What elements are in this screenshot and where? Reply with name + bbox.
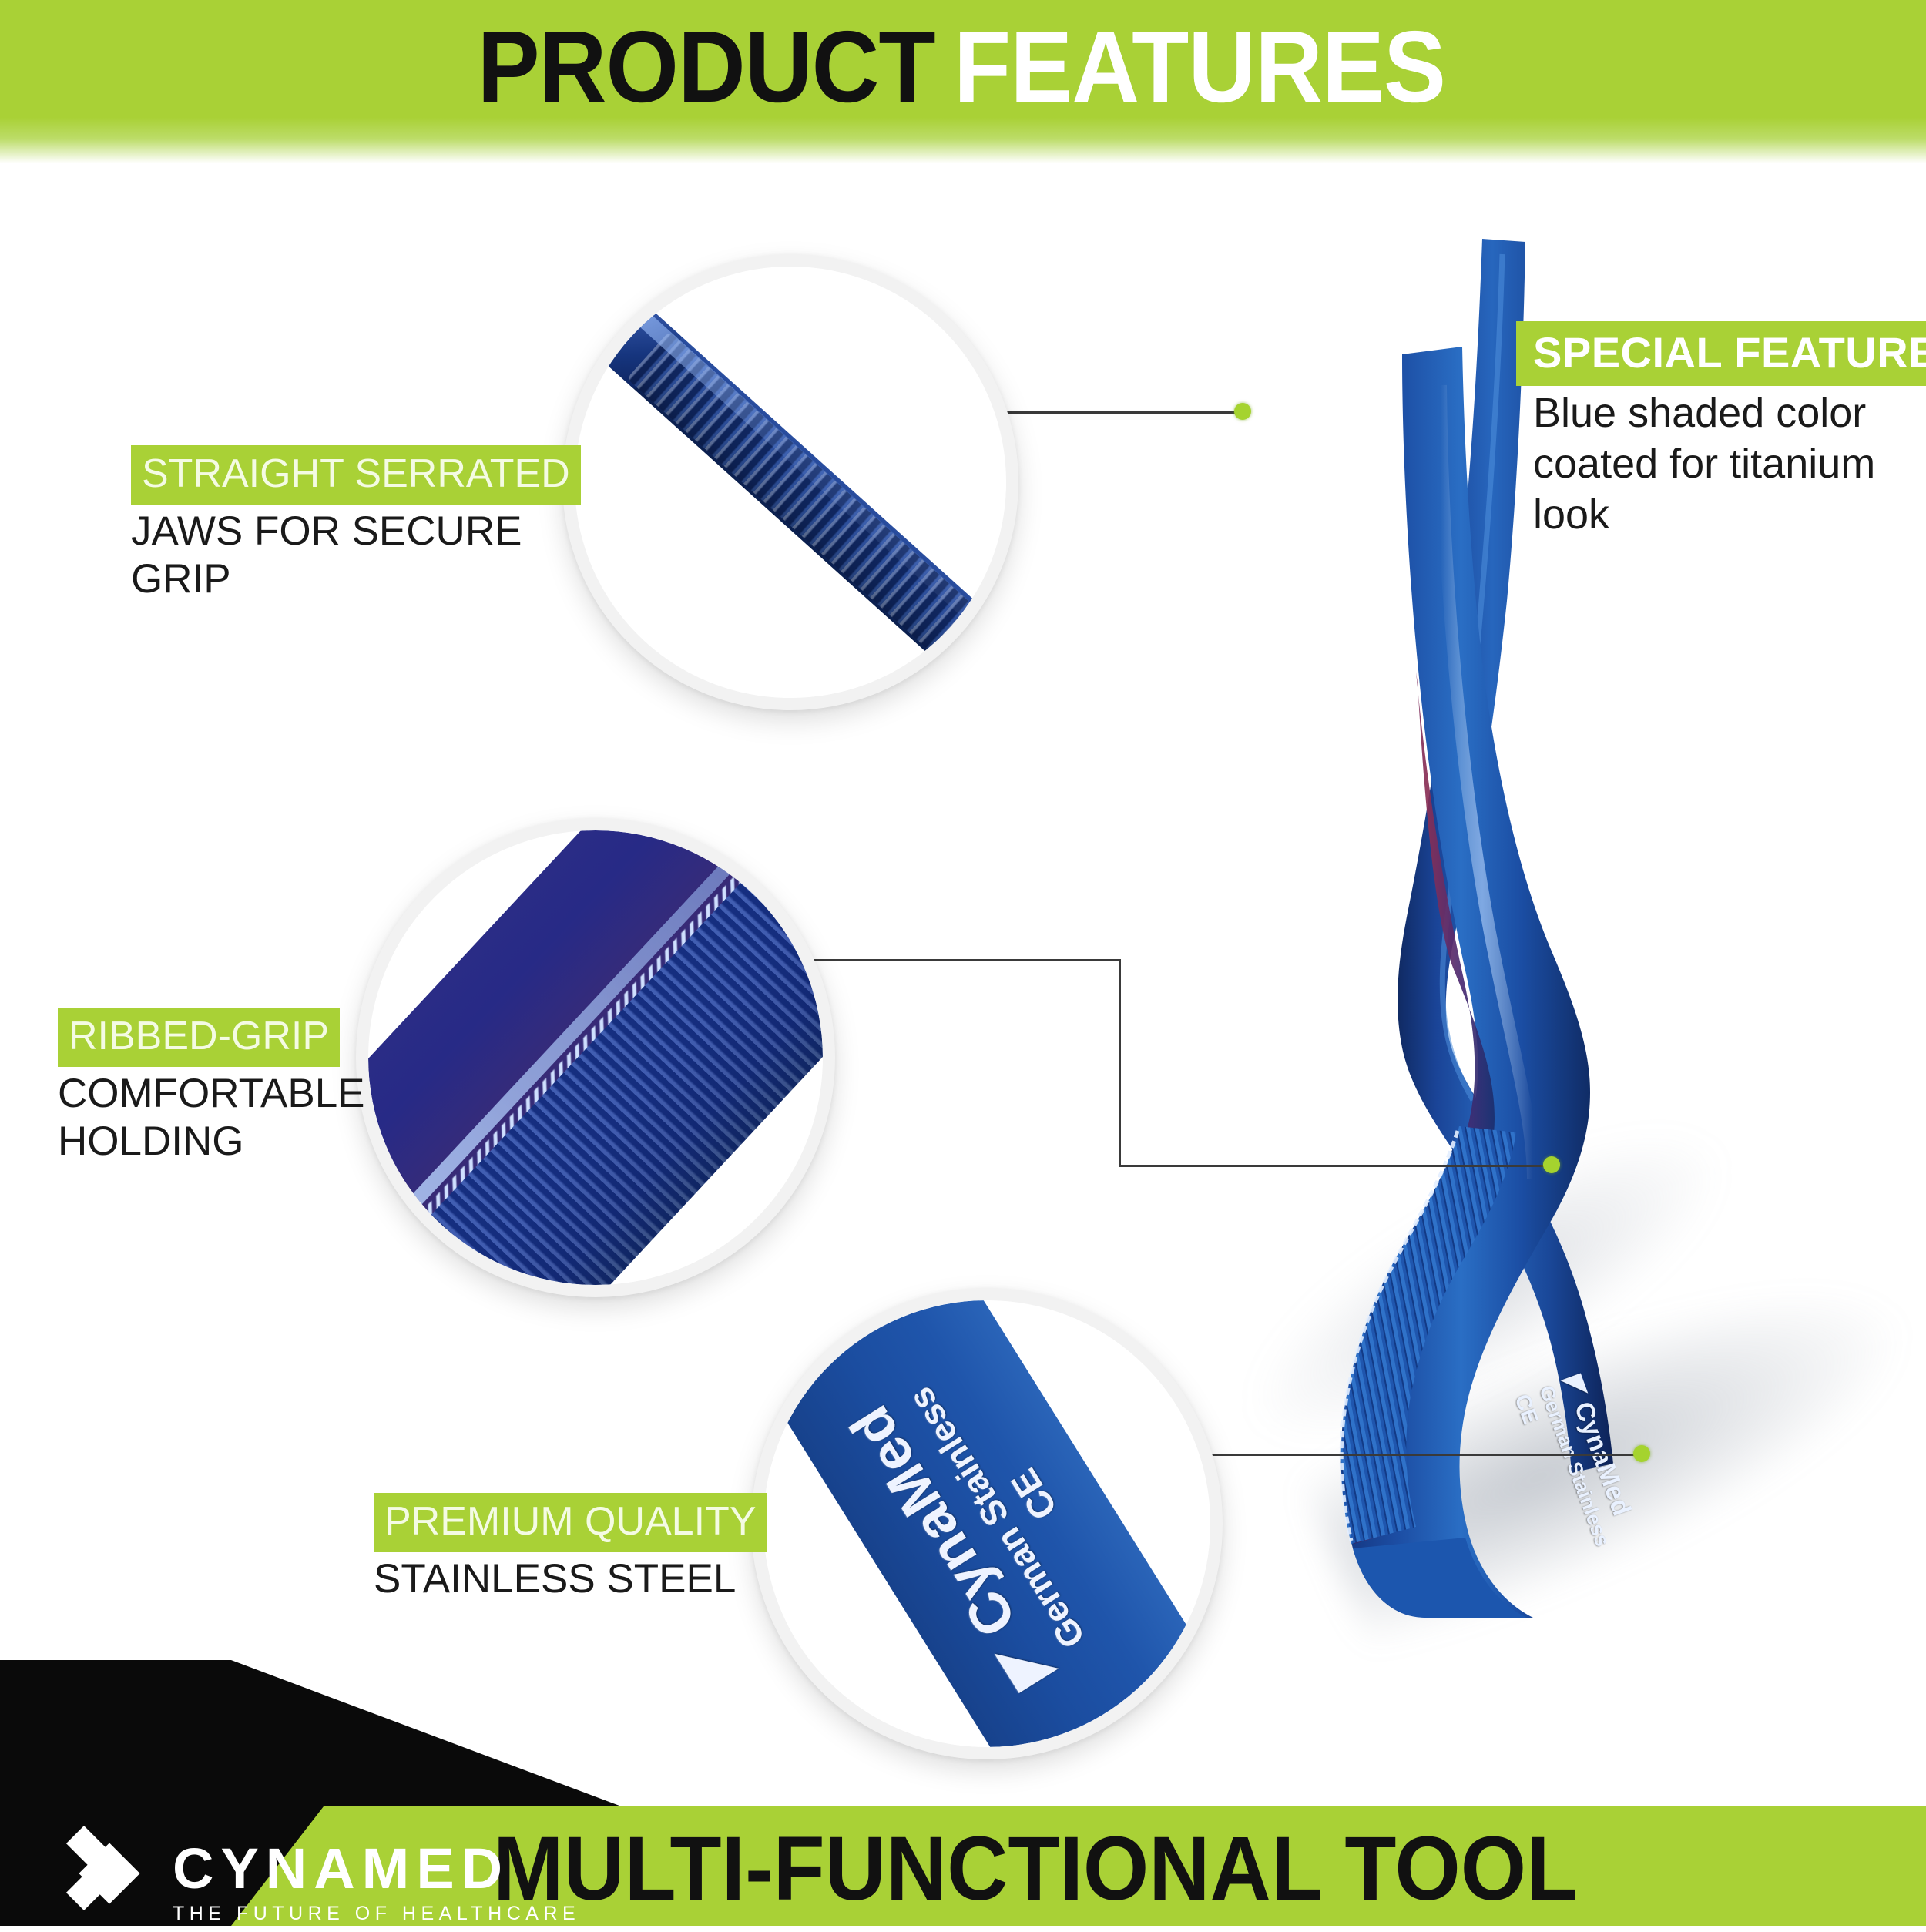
callout-line-ribbed-top	[786, 959, 1121, 961]
feature-body-serrated: JAWS FOR SECURE GRIP	[131, 508, 562, 603]
logo-name: CYNAMED	[173, 1840, 580, 1897]
feature-label-serrated: STRAIGHT SERRATED JAWS FOR SECURE GRIP	[131, 445, 562, 603]
feature-tag-premium: PREMIUM QUALITY	[374, 1493, 767, 1552]
feature-body-premium: STAINLESS STEEL	[374, 1555, 867, 1603]
callout-line-serrated	[990, 411, 1244, 414]
cynamed-logo-icon	[54, 1832, 153, 1932]
callout-dot-serrated	[1234, 403, 1251, 420]
infographic-canvas: PRODUCT FEATURES	[0, 0, 1926, 1926]
tweezers-handle-end	[1353, 1538, 1527, 1618]
feature-label-ribbed: RIBBED-GRIP COMFORTABLE HOLDING	[58, 1008, 443, 1166]
callout-dot-premium	[1633, 1445, 1650, 1462]
page-title-product: PRODUCT	[478, 8, 935, 125]
detail-circle-serrated-jaws[interactable]	[562, 254, 1018, 710]
page-title: PRODUCT FEATURES	[0, 5, 1926, 128]
callout-line-ribbed-bottom	[1119, 1165, 1550, 1167]
feature-label-premium: PREMIUM QUALITY STAINLESS STEEL	[374, 1493, 867, 1603]
callout-dot-ribbed	[1543, 1156, 1560, 1173]
page-title-features: FEATURES	[954, 8, 1445, 125]
footer-banner-text: MULTI-FUNCTIONAL TOOL	[493, 1812, 1826, 1926]
feature-tag-serrated: STRAIGHT SERRATED	[131, 445, 581, 505]
special-feature-body: Blue shaded color coated for titanium lo…	[1533, 388, 1918, 541]
feature-body-ribbed: COMFORTABLE HOLDING	[58, 1070, 443, 1166]
feature-tag-ribbed: RIBBED-GRIP	[58, 1008, 340, 1067]
brand-logo[interactable]: CYNAMED THE FUTURE OF HEALTHCARE	[54, 1832, 580, 1932]
callout-line-premium	[1190, 1454, 1641, 1456]
serrated-jaw-icon	[595, 301, 985, 663]
logo-tagline: THE FUTURE OF HEALTHCARE	[173, 1904, 580, 1924]
special-feature-tag: SPECIAL FEATURE	[1516, 321, 1926, 386]
callout-line-ribbed-vertical	[1119, 959, 1121, 1167]
special-feature-label: Blue shaded color coated for titanium lo…	[1533, 385, 1918, 541]
